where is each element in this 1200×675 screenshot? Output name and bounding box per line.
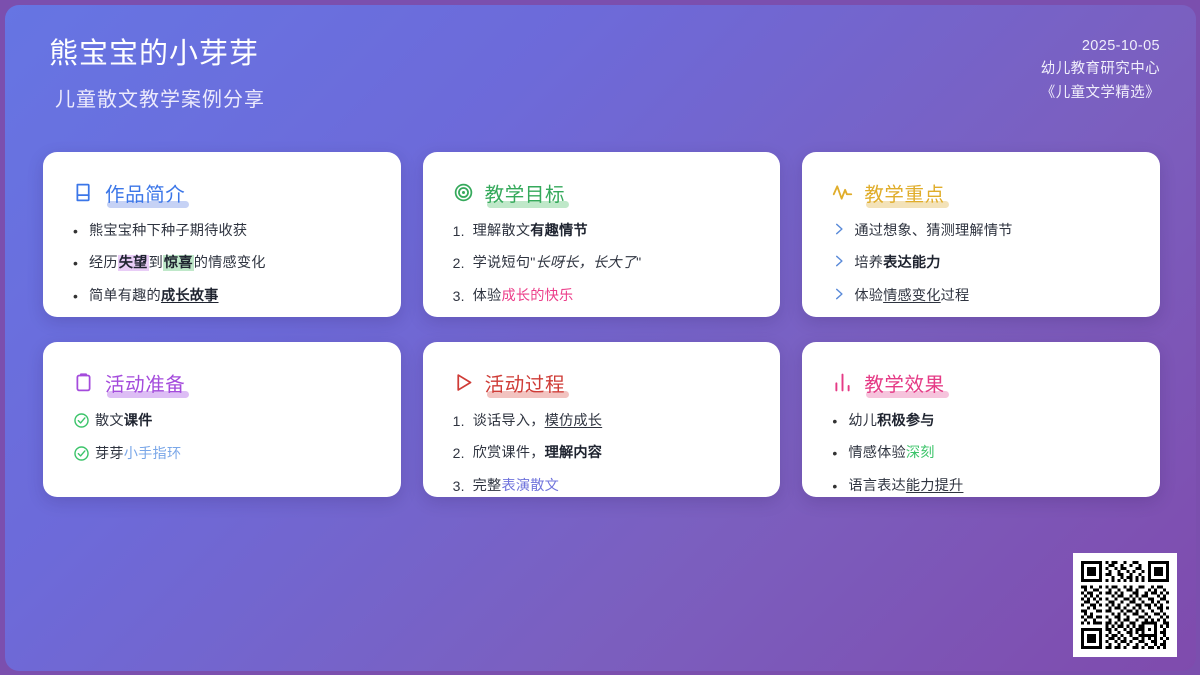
list-item-text: 通过想象、猜测理解情节	[854, 221, 1136, 242]
list-item-text: 幼儿积极参与	[848, 411, 1136, 432]
card-grid: 作品简介 • 熊宝宝种下种子期待收获 • 经历失望到惊喜的情感变化 • 简单有趣…	[43, 152, 1160, 497]
list-item: 3. 体验成长的快乐	[453, 286, 757, 307]
list-item-text: 体验情感变化过程	[854, 286, 1136, 307]
card-header: 教学重点	[832, 178, 1136, 207]
list-item: • 简单有趣的成长故事	[73, 286, 377, 307]
list-number: 3.	[453, 476, 473, 497]
list-item: • 经历失望到惊喜的情感变化	[73, 253, 377, 274]
bullet-dot: •	[832, 476, 848, 497]
bar-chart-icon	[832, 372, 853, 393]
list-number: 3.	[453, 286, 473, 307]
list-number: 1.	[453, 221, 473, 242]
card-header: 作品简介	[73, 178, 377, 207]
list-item-text: 培养表达能力	[854, 253, 1136, 274]
list-number: 2.	[453, 443, 473, 464]
card-teaching-goals[interactable]: 教学目标 1. 理解散文有趣情节 2. 学说短句"长呀长，长大了" 3. 体验成…	[423, 152, 781, 317]
card-header: 活动过程	[453, 368, 757, 397]
check-circle-icon	[73, 411, 95, 429]
play-triangle-icon	[453, 372, 474, 393]
card-title-wrap: 作品简介	[105, 178, 185, 207]
list-item-text: 简单有趣的成长故事	[89, 286, 377, 307]
list-item: 2. 学说短句"长呀长，长大了"	[453, 253, 757, 274]
list-item: • 幼儿积极参与	[832, 411, 1136, 432]
card-work-intro[interactable]: 作品简介 • 熊宝宝种下种子期待收获 • 经历失望到惊喜的情感变化 • 简单有趣…	[43, 152, 401, 317]
list-item-text: 芽芽小手指环	[95, 444, 377, 465]
list-item-text: 学说短句"长呀长，长大了"	[473, 253, 757, 274]
card-header: 教学目标	[453, 178, 757, 207]
list-item: • 熊宝宝种下种子期待收获	[73, 221, 377, 242]
card-title: 活动过程	[485, 374, 565, 396]
card-header: 活动准备	[73, 368, 377, 397]
check-circle-icon	[73, 444, 95, 462]
card-list: 1. 理解散文有趣情节 2. 学说短句"长呀长，长大了" 3. 体验成长的快乐	[453, 221, 757, 307]
card-list: 1. 谈话导入，模仿成长 2. 欣赏课件，理解内容 3. 完整表演散文	[453, 411, 757, 497]
card-list: 通过想象、猜测理解情节 培养表达能力 体验情感变化过程	[832, 221, 1136, 307]
list-item: 3. 完整表演散文	[453, 476, 757, 497]
chevron-right-icon	[832, 253, 854, 268]
list-number: 2.	[453, 253, 473, 274]
list-item: • 情感体验深刻	[832, 443, 1136, 464]
card-activity-prep[interactable]: 活动准备 散文课件 芽芽小手指环	[43, 342, 401, 497]
card-title: 教学效果	[864, 374, 944, 396]
card-title-wrap: 教学重点	[864, 178, 944, 207]
slide-frame: 熊宝宝的小芽芽 儿童散文教学案例分享 2025-10-05 幼儿教育研究中心 《…	[0, 0, 1200, 675]
list-item-text: 理解散文有趣情节	[473, 221, 757, 242]
card-list: 散文课件 芽芽小手指环	[73, 411, 377, 466]
list-item: 芽芽小手指环	[73, 444, 377, 465]
title-block: 熊宝宝的小芽芽 儿童散文教学案例分享	[45, 35, 265, 112]
card-title: 教学目标	[485, 184, 565, 206]
chevron-right-icon	[832, 221, 854, 236]
list-item-text: 情感体验深刻	[848, 443, 1136, 464]
meta-date: 2025-10-05	[1041, 35, 1160, 58]
chevron-right-icon	[832, 286, 854, 301]
list-item: • 语言表达能力提升	[832, 476, 1136, 497]
list-item: 培养表达能力	[832, 253, 1136, 274]
clipboard-icon	[73, 372, 94, 393]
page-subtitle: 儿童散文教学案例分享	[49, 83, 265, 112]
bullet-dot: •	[73, 286, 89, 307]
target-icon	[453, 182, 474, 203]
page-title: 熊宝宝的小芽芽	[49, 35, 265, 74]
list-item-text: 欣赏课件，理解内容	[473, 443, 757, 464]
list-item-text: 散文课件	[95, 411, 377, 432]
activity-pulse-icon	[832, 182, 853, 203]
card-title: 活动准备	[105, 374, 185, 396]
bullet-dot: •	[832, 443, 848, 464]
list-item-text: 经历失望到惊喜的情感变化	[89, 253, 377, 274]
card-title-wrap: 活动准备	[105, 368, 185, 397]
meta-source: 《儿童文学精选》	[1041, 82, 1160, 105]
list-item-text: 语言表达能力提升	[848, 476, 1136, 497]
list-item-text: 谈话导入，模仿成长	[473, 411, 757, 432]
card-title: 作品简介	[105, 184, 185, 206]
list-item-text: 体验成长的快乐	[473, 286, 757, 307]
card-title: 教学重点	[864, 184, 944, 206]
card-title-wrap: 活动过程	[485, 368, 565, 397]
meta-organization: 幼儿教育研究中心	[1041, 58, 1160, 81]
slide-canvas: 熊宝宝的小芽芽 儿童散文教学案例分享 2025-10-05 幼儿教育研究中心 《…	[5, 5, 1196, 671]
card-teaching-results[interactable]: 教学效果 • 幼儿积极参与 • 情感体验深刻 • 语言表达能力提升	[802, 342, 1160, 497]
card-teaching-focus[interactable]: 教学重点 通过想象、猜测理解情节 培养表达能力	[802, 152, 1160, 317]
list-item: 散文课件	[73, 411, 377, 432]
card-header: 教学效果	[832, 368, 1136, 397]
card-title-wrap: 教学目标	[485, 178, 565, 207]
bullet-dot: •	[73, 253, 89, 274]
list-item: 体验情感变化过程	[832, 286, 1136, 307]
list-item-text: 熊宝宝种下种子期待收获	[89, 221, 377, 242]
card-list: • 幼儿积极参与 • 情感体验深刻 • 语言表达能力提升	[832, 411, 1136, 497]
qr-code-image	[1081, 561, 1169, 649]
bullet-dot: •	[832, 411, 848, 432]
header-meta: 2025-10-05 幼儿教育研究中心 《儿童文学精选》	[1041, 35, 1160, 105]
list-item-text: 完整表演散文	[473, 476, 757, 497]
list-item: 1. 理解散文有趣情节	[453, 221, 757, 242]
qr-code[interactable]	[1073, 553, 1177, 657]
card-title-wrap: 教学效果	[864, 368, 944, 397]
card-activity-process[interactable]: 活动过程 1. 谈话导入，模仿成长 2. 欣赏课件，理解内容 3. 完整表演散文	[423, 342, 781, 497]
list-item: 通过想象、猜测理解情节	[832, 221, 1136, 242]
bullet-dot: •	[73, 221, 89, 242]
card-list: • 熊宝宝种下种子期待收获 • 经历失望到惊喜的情感变化 • 简单有趣的成长故事	[73, 221, 377, 307]
list-number: 1.	[453, 411, 473, 432]
slide-header: 熊宝宝的小芽芽 儿童散文教学案例分享 2025-10-05 幼儿教育研究中心 《…	[45, 35, 1160, 112]
list-item: 1. 谈话导入，模仿成长	[453, 411, 757, 432]
book-icon	[73, 182, 94, 203]
list-item: 2. 欣赏课件，理解内容	[453, 443, 757, 464]
